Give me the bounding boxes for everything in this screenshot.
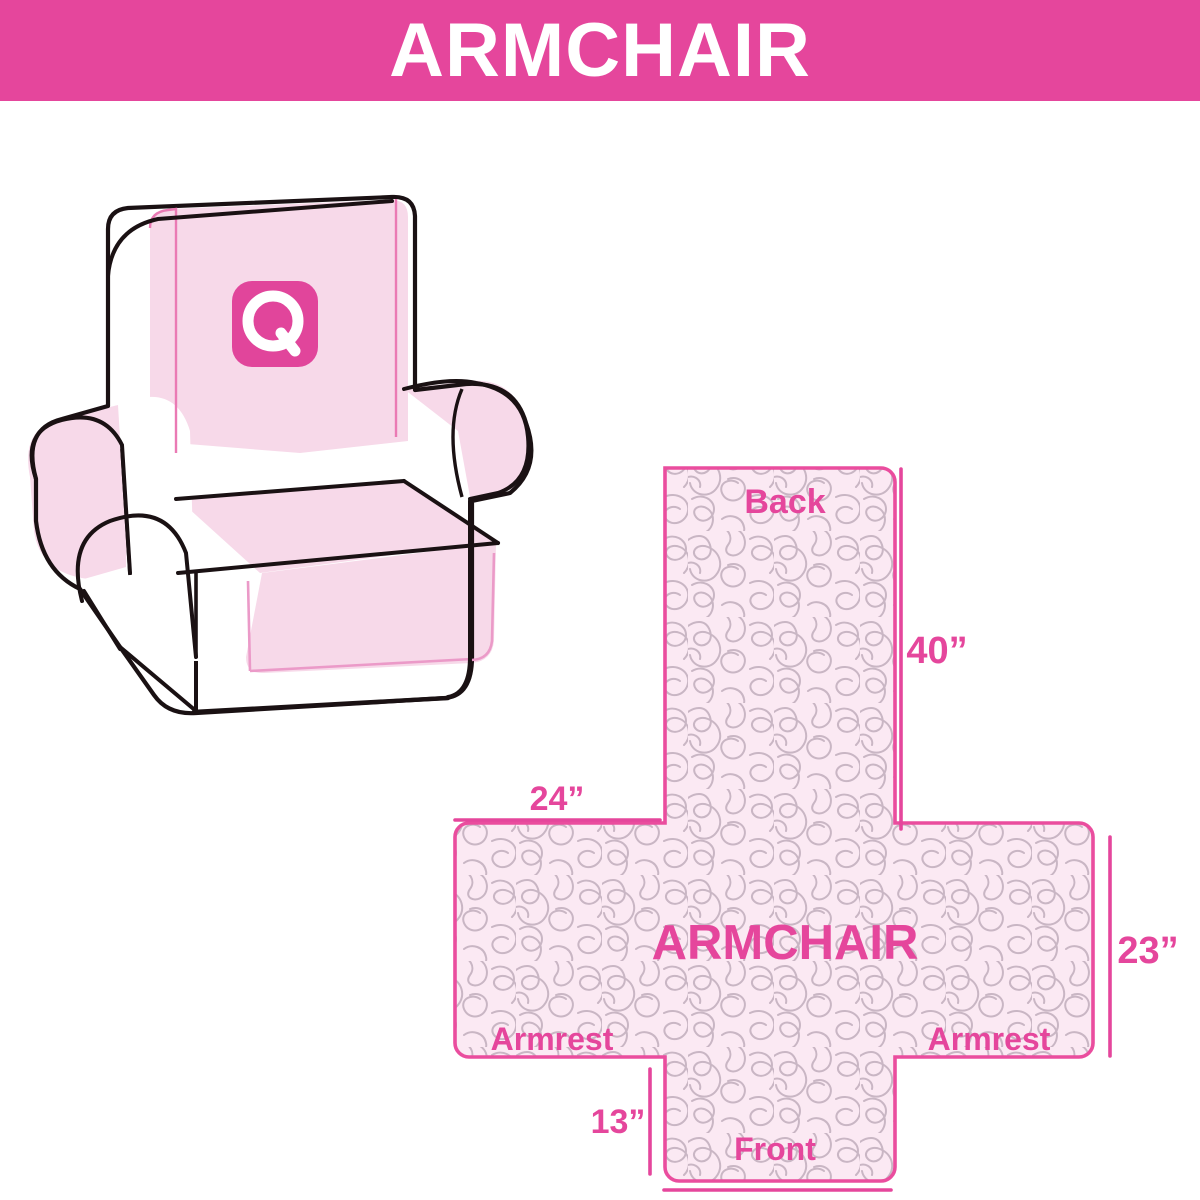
slipcover-layout-diagram: Back ARMCHAIR Armrest Armrest Front 40” … — [0, 101, 1200, 1200]
panel-label-armrest-left: Armrest — [491, 1021, 614, 1057]
panel-label-front: Front — [734, 1131, 816, 1167]
dimension-value-front-height: 13” — [591, 1103, 646, 1141]
panel-label-armrest-right: Armrest — [928, 1021, 1051, 1057]
page-title: ARMCHAIR — [389, 13, 811, 89]
panel-label-back: Back — [744, 483, 825, 521]
content-area: Back ARMCHAIR Armrest Armrest Front 40” … — [0, 101, 1200, 1200]
panel-label-center: ARMCHAIR — [652, 916, 919, 970]
dimension-value-back-width: 24” — [530, 780, 585, 818]
dimension-value-front-width: 24” — [750, 1195, 805, 1200]
dimension-value-armrest-height: 23” — [1117, 930, 1178, 972]
cross-panel-body — [440, 456, 1120, 1196]
dimension-value-back-height: 40” — [906, 630, 967, 672]
header-banner: ARMCHAIR — [0, 0, 1200, 101]
